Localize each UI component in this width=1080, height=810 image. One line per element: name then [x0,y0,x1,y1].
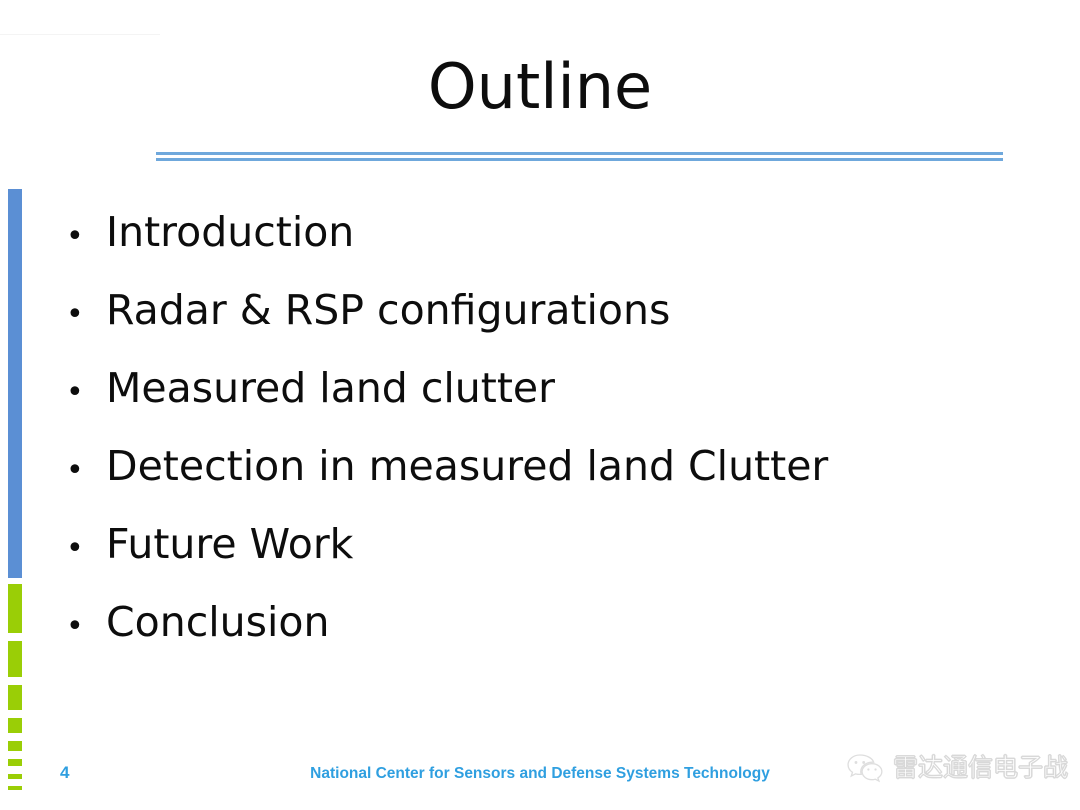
bullet-marker-icon: • [58,432,106,510]
side-decoration-segment [8,641,22,677]
list-item: •Future Work [58,505,1048,583]
list-item-label: Measured land clutter [106,349,1048,427]
list-item-label: Introduction [106,193,1048,271]
list-item: •Conclusion [58,583,1048,661]
side-decoration-bar [8,189,22,694]
list-item: •Detection in measured land Clutter [58,427,1048,505]
side-decoration-segment [8,718,22,733]
side-decoration-segment [8,786,22,790]
side-decoration-segment [8,685,22,710]
top-hairline-divider [0,34,160,35]
list-item-label: Radar & RSP configurations [106,271,1048,349]
side-decoration-segment [8,584,22,633]
title-rule-line-bottom [156,158,1003,161]
list-item-label: Conclusion [106,583,1048,661]
wechat-icon [846,752,884,784]
outline-bullet-list: •Introduction•Radar & RSP configurations… [58,193,1048,661]
title-underline-rule [156,152,1003,161]
bullet-marker-icon: • [58,276,106,354]
bullet-marker-icon: • [58,354,106,432]
title-rule-line-top [156,152,1003,155]
list-item-label: Detection in measured land Clutter [106,427,1048,505]
side-decoration-segment [8,189,22,578]
watermark: 雷达通信电子战 [846,752,1068,784]
bullet-marker-icon: • [58,588,106,666]
list-item: •Radar & RSP configurations [58,271,1048,349]
page-title: Outline [0,50,1080,124]
side-decoration-segment [8,741,22,751]
watermark-text: 雷达通信电子战 [893,753,1068,783]
list-item: •Measured land clutter [58,349,1048,427]
bullet-marker-icon: • [58,198,106,276]
list-item-label: Future Work [106,505,1048,583]
bullet-marker-icon: • [58,510,106,588]
slide-canvas: Outline •Introduction•Radar & RSP config… [0,0,1080,810]
list-item: •Introduction [58,193,1048,271]
